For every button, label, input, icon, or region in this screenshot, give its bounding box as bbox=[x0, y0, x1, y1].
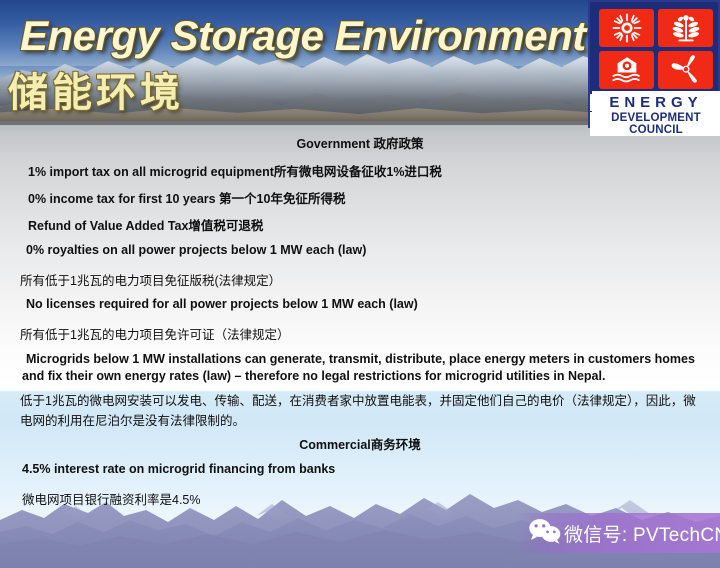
slide-content: Government 政府政策 1% import tax on all mic… bbox=[0, 124, 720, 568]
microgrid-paragraph-english-line2: and fix their own energy rates (law) – t… bbox=[22, 368, 712, 385]
wechat-handle-text: 微信号: PVTechCN bbox=[564, 520, 720, 547]
plant-icon bbox=[658, 9, 713, 47]
policy-item-3: Refund of Value Added Tax增值税可退税 bbox=[28, 215, 263, 234]
policy-item-1: 1% import tax on all microgrid equipment… bbox=[28, 161, 442, 180]
commercial-section-heading: Commercial商务环境 bbox=[0, 434, 720, 453]
wechat-icon bbox=[528, 517, 562, 550]
wind-turbine-icon bbox=[658, 51, 713, 89]
microgrid-paragraph-chinese-line1: 低于1兆瓦的微电网安装可以发电、传输、配送，在消费者家中放置电能表，并固定他们自… bbox=[20, 392, 720, 411]
slide-title-english: Energy Storage Environment bbox=[20, 12, 586, 60]
commercial-item-english: 4.5% interest rate on microgrid financin… bbox=[22, 462, 335, 476]
wechat-watermark: 微信号: PVTechCN bbox=[516, 513, 720, 553]
policy-item-2: 0% income tax for first 10 years 第一个10年免… bbox=[28, 188, 345, 207]
policy-item-5: No licenses required for all power proje… bbox=[26, 297, 418, 311]
logo-name-line1: ENERGY bbox=[590, 94, 720, 111]
logo-icon-grid bbox=[599, 9, 713, 89]
hydro-icon bbox=[599, 51, 654, 89]
policy-item-5-chinese: 所有低于1兆瓦的电力项目免许可证（法律规定） bbox=[20, 324, 289, 343]
microgrid-paragraph-english-line1: Microgrids below 1 MW installations can … bbox=[26, 351, 716, 368]
policy-item-4-chinese: 所有低于1兆瓦的电力项目免征版税(法律规定） bbox=[20, 270, 281, 289]
energy-development-council-logo: ENERGY DEVELOPMENT COUNCIL bbox=[588, 0, 720, 128]
microgrid-paragraph-chinese-line2: 电网的利用在尼泊尔是没有法律限制的。 bbox=[20, 412, 720, 431]
policy-item-4: 0% royalties on all power projects below… bbox=[26, 243, 366, 257]
slide-title-chinese: 储能环境 bbox=[8, 60, 184, 118]
commercial-item-chinese: 微电网项目银行融资利率是4.5% bbox=[22, 489, 201, 508]
sun-icon bbox=[599, 9, 654, 47]
presentation-slide: Energy Storage Environment 储能环境 bbox=[0, 0, 720, 568]
logo-name-line2: DEVELOPMENT COUNCIL bbox=[590, 112, 720, 136]
